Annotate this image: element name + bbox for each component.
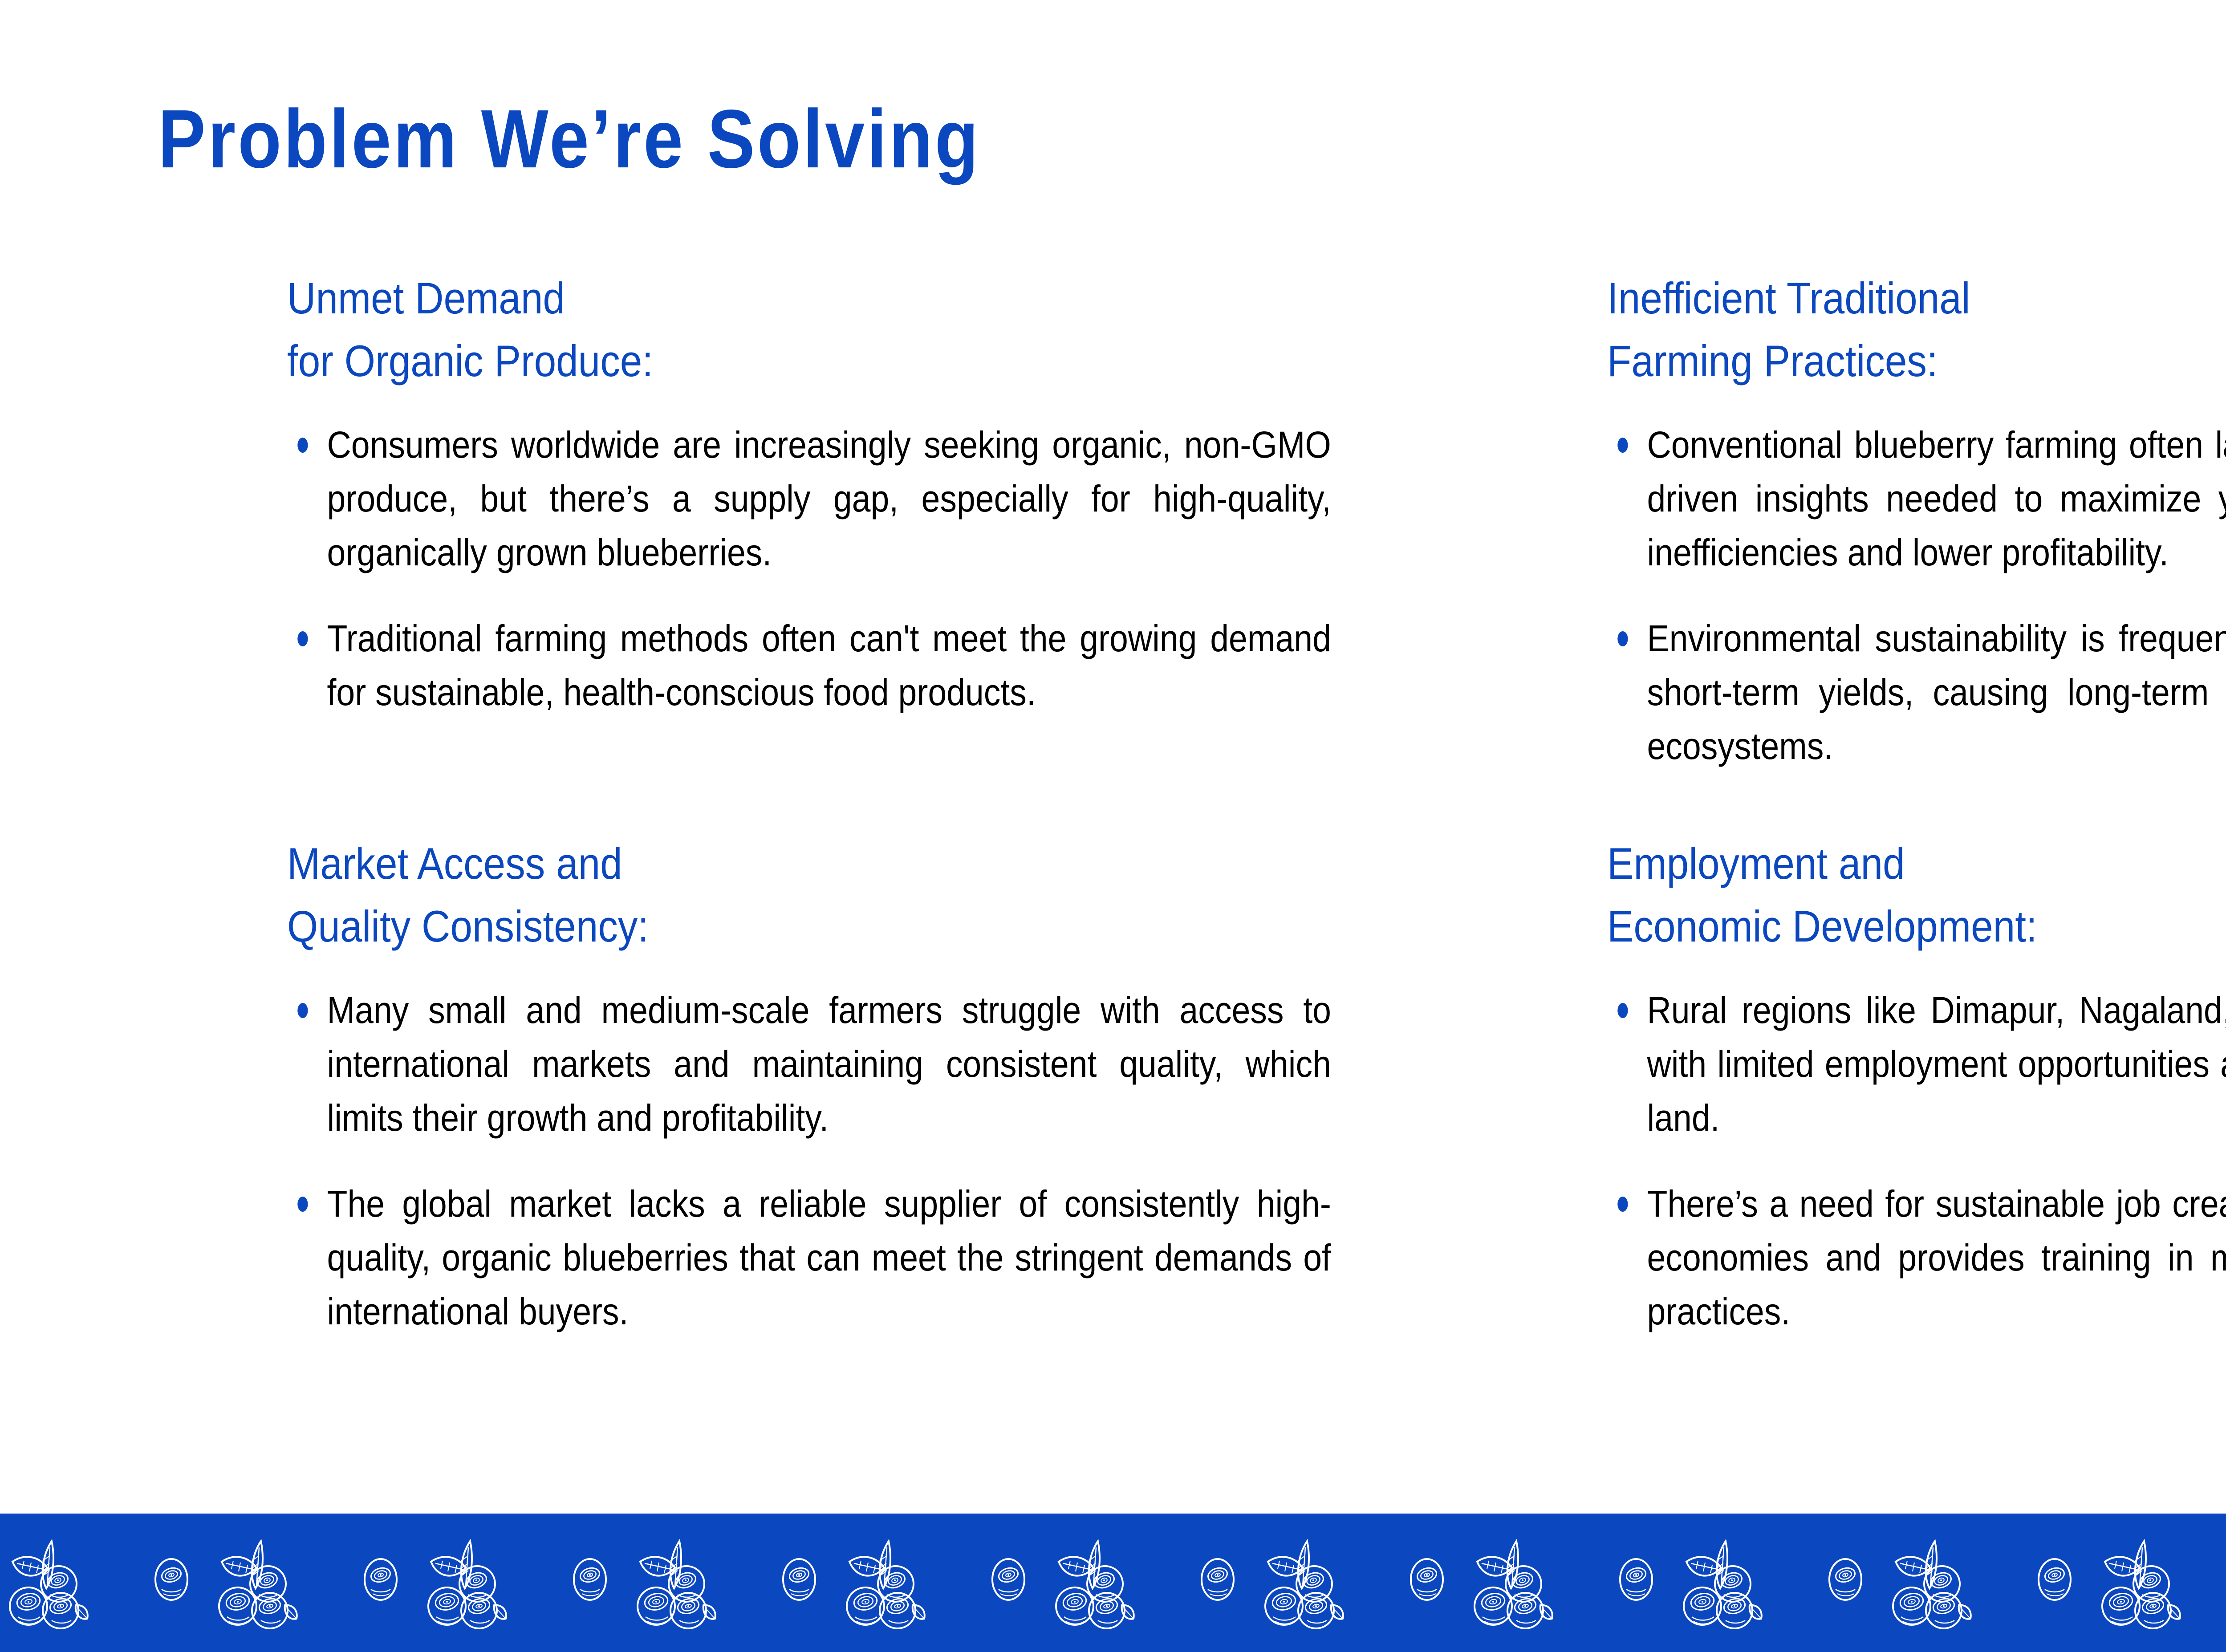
bullet-text: Traditional farming methods often can't … [327,617,1331,713]
block-employment-economic-development: Employment and Economic Development: Rur… [1607,832,2226,1339]
bullet-item: Rural regions like Dimapur, Nagaland, fa… [1607,983,2226,1145]
bullet-dot-icon [1617,631,1628,646]
bullet-dot-icon [1617,1197,1628,1212]
block-unmet-demand: Unmet Demand for Organic Produce: Consum… [287,267,1454,719]
bullet-text: The global market lacks a reliable suppl… [327,1183,1331,1332]
bullet-dot-icon [1617,438,1628,453]
bullet-text: Environmental sustainability is frequent… [1647,617,2226,767]
bullet-list: Rural regions like Dimapur, Nagaland, fa… [1607,983,2226,1339]
bullet-item: The global market lacks a reliable suppl… [287,1177,1331,1339]
bullet-dot-icon [297,1197,308,1212]
bullet-item: Traditional farming methods often can't … [287,612,1331,719]
bullet-item: Environmental sustainability is frequent… [1607,612,2226,773]
bullet-list: Conventional blueberry farming often lac… [1607,418,2226,773]
page-title: Problem We’re Solving [158,96,981,183]
bullet-dot-icon [297,1003,308,1018]
bullet-dot-icon [297,438,308,453]
block-heading: Unmet Demand for Organic Produce: [287,267,1337,392]
blueberry-pattern-icon [0,1514,2226,1652]
block-heading: Employment and Economic Development: [1607,832,2226,958]
bullet-item: There’s a need for sustainable job creat… [1607,1177,2226,1339]
bullet-text: Rural regions like Dimapur, Nagaland, fa… [1647,989,2226,1139]
block-heading: Inefficient Traditional Farming Practice… [1607,267,2226,392]
bullet-item: Consumers worldwide are increasingly see… [287,418,1331,580]
bullet-item: Many small and medium-scale farmers stru… [287,983,1331,1145]
block-heading: Market Access and Quality Consistency: [287,832,1337,958]
bullet-list: Many small and medium-scale farmers stru… [287,983,1454,1339]
bullet-text: Conventional blueberry farming often lac… [1647,424,2226,573]
bullet-dot-icon [297,631,308,646]
bullet-text: Many small and medium-scale farmers stru… [327,989,1331,1139]
block-inefficient-traditional-farming: Inefficient Traditional Farming Practice… [1607,267,2226,773]
bullet-dot-icon [1617,1003,1628,1018]
bullet-list: Consumers worldwide are increasingly see… [287,418,1454,719]
footer-band [0,1514,2226,1652]
bullet-item: Conventional blueberry farming often lac… [1607,418,2226,580]
block-market-access: Market Access and Quality Consistency: M… [287,832,1454,1339]
content-area: Unmet Demand for Organic Produce: Consum… [0,267,2226,1469]
bullet-text: Consumers worldwide are increasingly see… [327,424,1331,573]
bullet-text: There’s a need for sustainable job creat… [1647,1183,2226,1332]
